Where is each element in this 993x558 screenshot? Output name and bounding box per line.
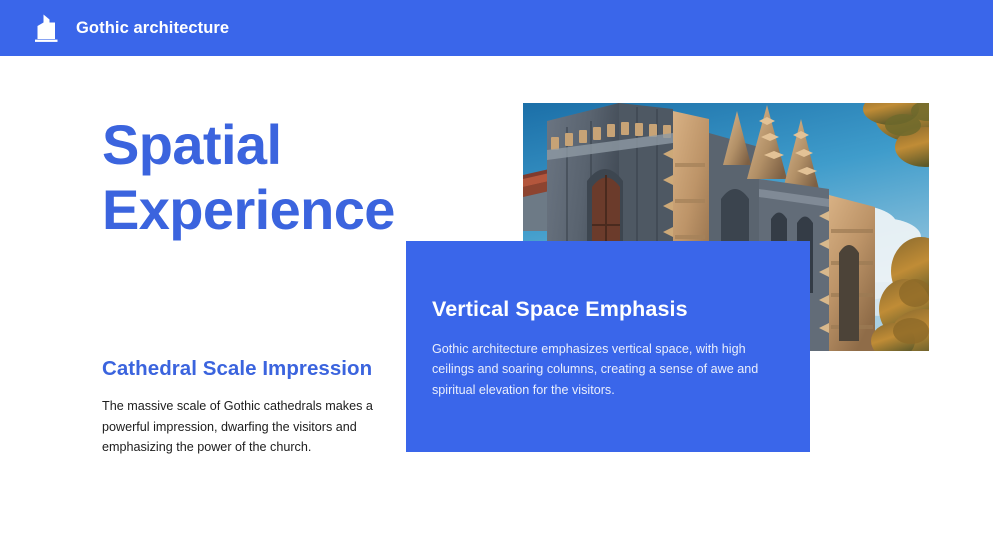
brand-title: Gothic architecture [76, 19, 229, 38]
vertical-space-emphasis-card: Vertical Space Emphasis Gothic architect… [406, 241, 810, 452]
cathedral-scale-heading: Cathedral Scale Impression [102, 356, 412, 382]
page-title: Spatial Experience [102, 113, 432, 243]
page-title-line-1: Spatial [102, 113, 432, 178]
cathedral-scale-section: Cathedral Scale Impression The massive s… [102, 356, 412, 458]
page-title-line-2: Experience [102, 178, 432, 243]
cathedral-building-icon [29, 11, 63, 45]
cathedral-scale-body-text: The massive scale of Gothic cathedrals m… [102, 396, 412, 459]
header-bar: Gothic architecture [0, 0, 993, 56]
card-body-text: Gothic architecture emphasizes vertical … [432, 339, 778, 400]
card-heading: Vertical Space Emphasis [432, 297, 780, 323]
slide-canvas: Gothic architecture [0, 0, 993, 558]
